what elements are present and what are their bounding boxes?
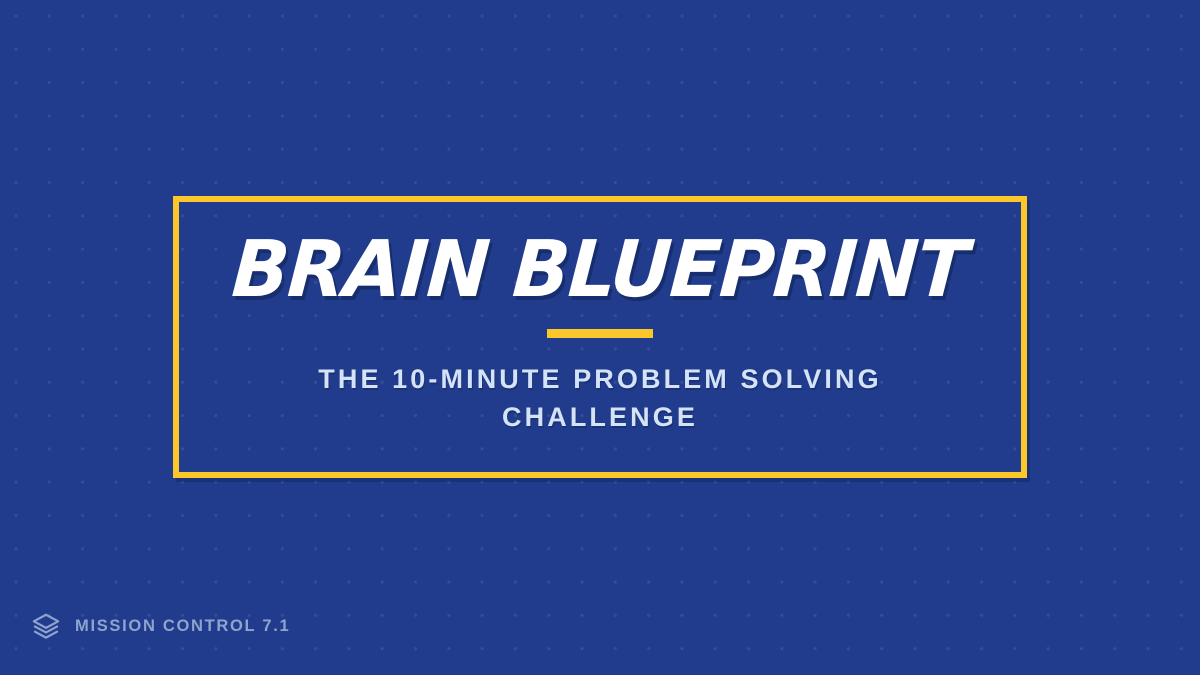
- hero-frame: BRAIN BLUEPRINT THE 10-MINUTE PROBLEM SO…: [173, 196, 1027, 478]
- title-divider: [547, 329, 653, 338]
- hero-content: BRAIN BLUEPRINT THE 10-MINUTE PROBLEM SO…: [179, 202, 1021, 472]
- page-subtitle: THE 10-MINUTE PROBLEM SOLVING CHALLENGE: [260, 361, 940, 436]
- layers-stack-icon: [31, 611, 61, 641]
- footer-brand: MISSION CONTROL 7.1: [31, 611, 290, 641]
- page-title: BRAIN BLUEPRINT: [230, 232, 970, 308]
- title-slide: BRAIN BLUEPRINT THE 10-MINUTE PROBLEM SO…: [0, 0, 1200, 675]
- brand-label: MISSION CONTROL 7.1: [75, 617, 290, 636]
